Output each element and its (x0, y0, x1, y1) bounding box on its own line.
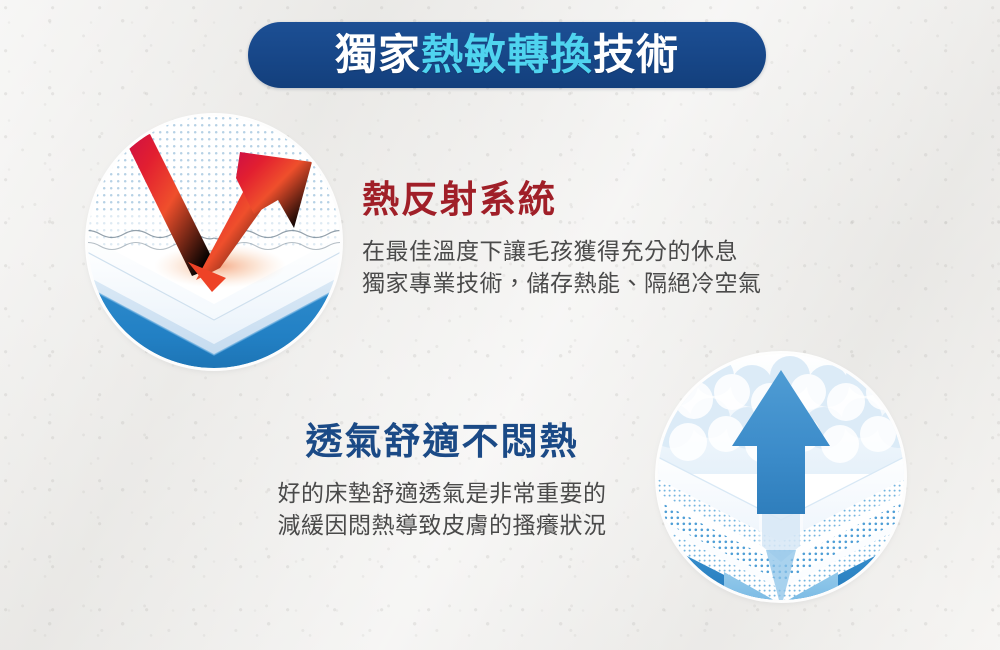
feature-heading-heat-reflection: 熱反射系統 (362, 178, 762, 222)
banner-title-text: 獨家熱敏轉換技術 (335, 34, 679, 76)
banner-title-pill: 獨家熱敏轉換技術 (248, 22, 766, 88)
feature-body-line-heat-1: 在最佳溫度下讓毛孩獲得充分的休息 (362, 236, 762, 269)
feature-heat-reflection: 熱反射系統 在最佳溫度下讓毛孩獲得充分的休息 獨家專業技術，儲存熱能、隔絕冷空氣 (362, 178, 762, 301)
feature-body-line-breath-1: 好的床墊舒適透氣是非常重要的 (232, 478, 652, 511)
feature-body-line-heat-2: 獨家專業技術，儲存熱能、隔絕冷空氣 (362, 268, 762, 301)
feature-heading-breathable-comfort: 透氣舒適不悶熱 (232, 420, 652, 464)
banner-title-segment-3: 技術 (593, 30, 679, 79)
breathability-illustration (658, 354, 904, 600)
feature-body-line-breath-2: 減緩因悶熱導致皮膚的搔癢狀況 (232, 510, 652, 543)
feature-breathable-comfort: 透氣舒適不悶熱 好的床墊舒適透氣是非常重要的 減緩因悶熱導致皮膚的搔癢狀況 (232, 420, 652, 543)
banner-title-segment-2: 熱敏轉換 (421, 30, 593, 79)
heat-reflection-illustration (88, 116, 340, 368)
banner-title-segment-1: 獨家 (335, 30, 421, 79)
